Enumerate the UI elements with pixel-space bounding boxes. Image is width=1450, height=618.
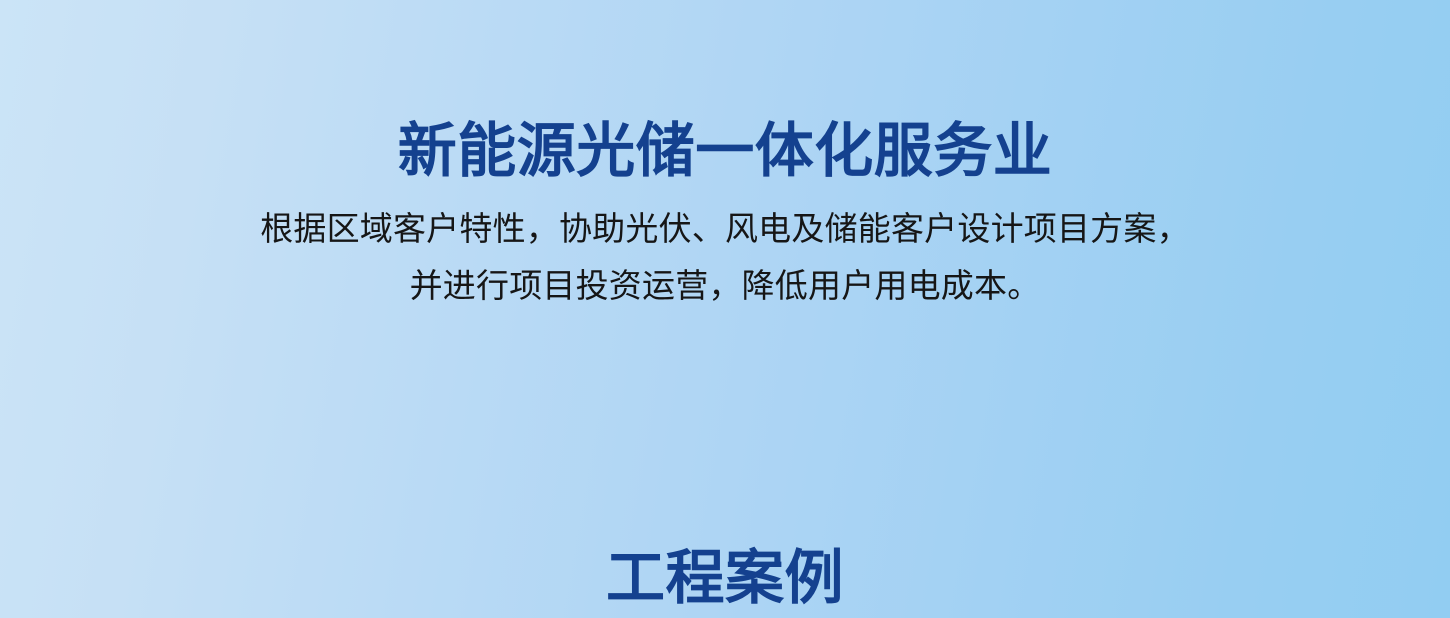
body-description-line-2: 并进行项目投资运营，降低用户用电成本。 (0, 257, 1450, 314)
body-description-line-1: 根据区域客户特性，协助光伏、风电及储能客户设计项目方案， (0, 200, 1450, 257)
page-title: 新能源光储一体化服务业 (0, 118, 1450, 184)
section-heading-case-studies: 工程案例 (0, 545, 1450, 613)
slide-canvas: 新能源光储一体化服务业 根据区域客户特性，协助光伏、风电及储能客户设计项目方案，… (0, 0, 1450, 618)
body-description: 根据区域客户特性，协助光伏、风电及储能客户设计项目方案， 并进行项目投资运营，降… (0, 200, 1450, 314)
